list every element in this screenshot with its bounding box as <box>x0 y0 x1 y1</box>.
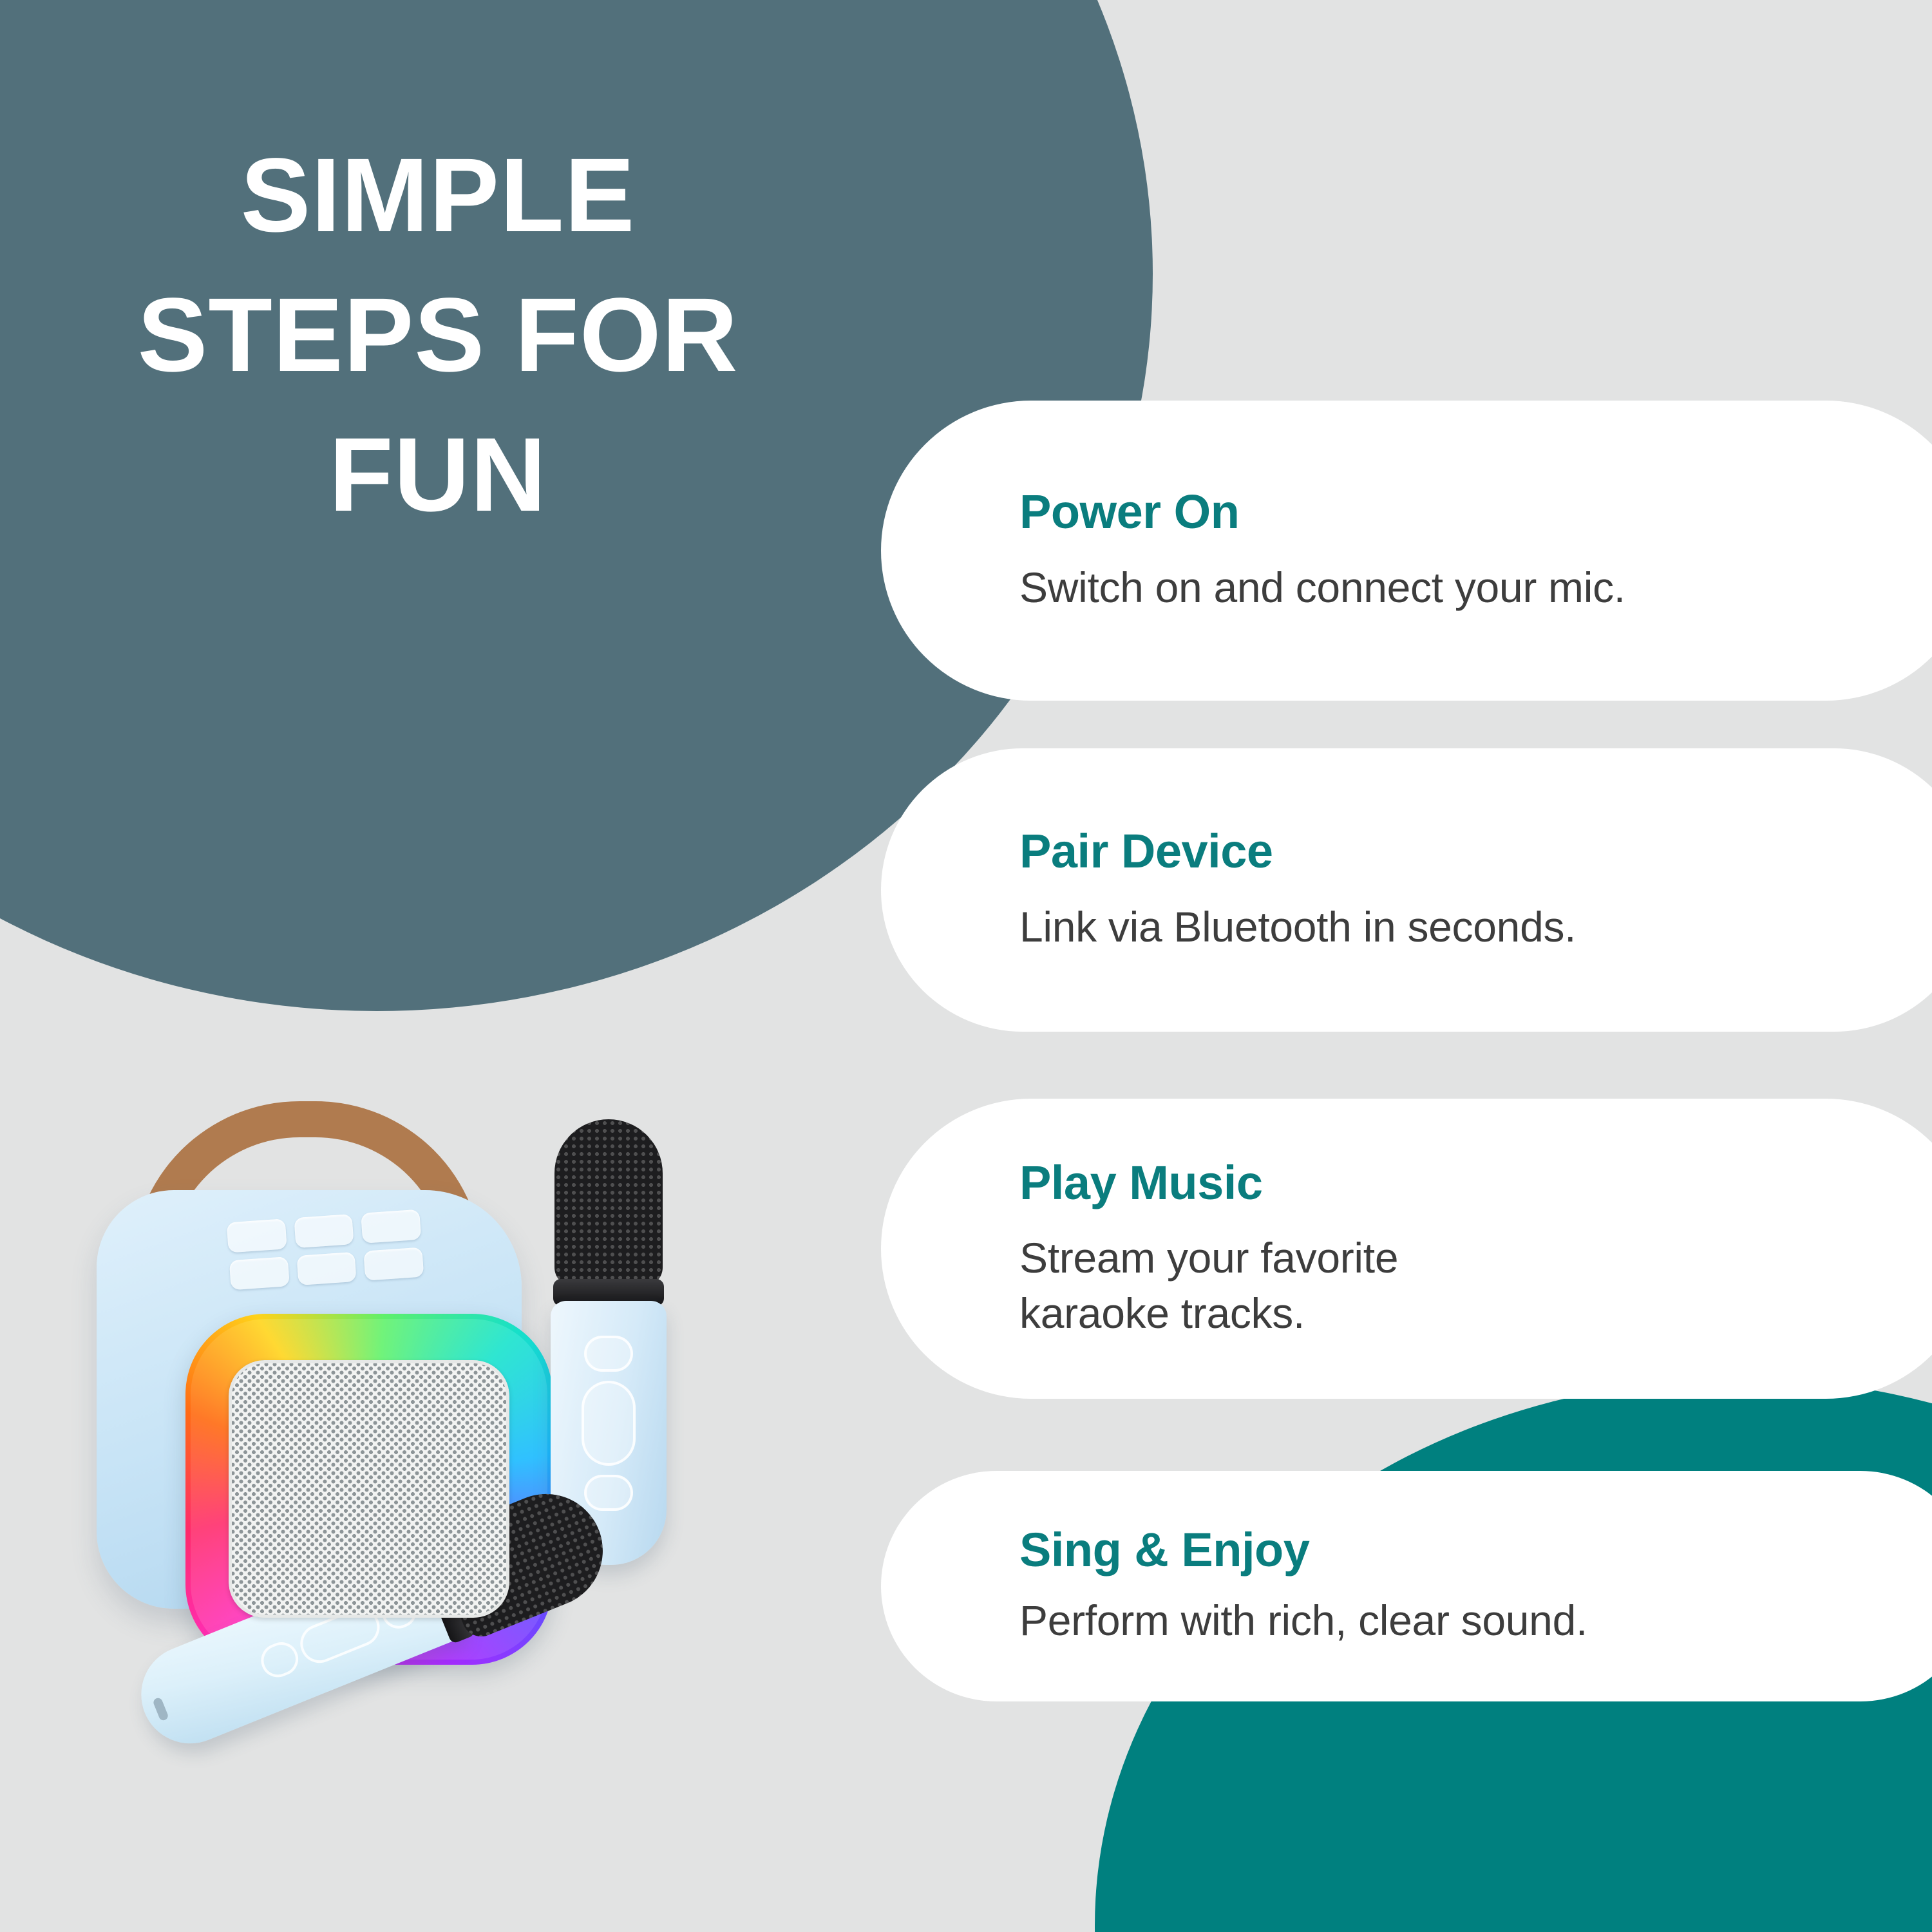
mic-volume-rocker-icon <box>582 1381 636 1466</box>
speaker-mesh-grille <box>229 1360 509 1618</box>
mic-power-button-icon <box>584 1336 633 1372</box>
product-image <box>71 1095 786 1874</box>
page-title: SIMPLE STEPS FOR FUN <box>39 126 837 544</box>
step-title: Pair Device <box>1019 825 1932 877</box>
step-card-sing-enjoy[interactable]: Sing & Enjoy Perform with rich, clear so… <box>881 1471 1932 1701</box>
mic-echo-button-icon <box>584 1475 633 1511</box>
speaker-button-3 <box>361 1209 422 1244</box>
mic-head-mesh-icon <box>554 1119 663 1287</box>
title-line-3: FUN <box>39 405 837 545</box>
speaker-button-1 <box>227 1218 287 1253</box>
step-description: Switch on and connect your mic. <box>1019 560 1932 616</box>
infographic-canvas: SIMPLE STEPS FOR FUN <box>0 0 1932 1932</box>
step-card-play-music[interactable]: Play Music Stream your favorite karaoke … <box>881 1099 1932 1399</box>
speaker-control-buttons <box>227 1209 424 1291</box>
step-card-power-on[interactable]: Power On Switch on and connect your mic. <box>881 401 1932 701</box>
step-description: Stream your favorite karaoke tracks. <box>1019 1231 1932 1341</box>
title-line-1: SIMPLE <box>39 126 837 265</box>
speaker-button-2 <box>294 1214 354 1248</box>
speaker-button-6 <box>364 1247 424 1281</box>
title-line-2: STEPS FOR <box>39 265 837 405</box>
step-title: Play Music <box>1019 1157 1932 1209</box>
speaker-button-5 <box>296 1251 357 1285</box>
step-description: Perform with rich, clear sound. <box>1019 1593 1932 1649</box>
speaker-button-4 <box>229 1256 290 1291</box>
step-card-pair-device[interactable]: Pair Device Link via Bluetooth in second… <box>881 748 1932 1032</box>
step-title: Power On <box>1019 486 1932 538</box>
step-title: Sing & Enjoy <box>1019 1524 1932 1576</box>
step-description: Link via Bluetooth in seconds. <box>1019 900 1932 955</box>
